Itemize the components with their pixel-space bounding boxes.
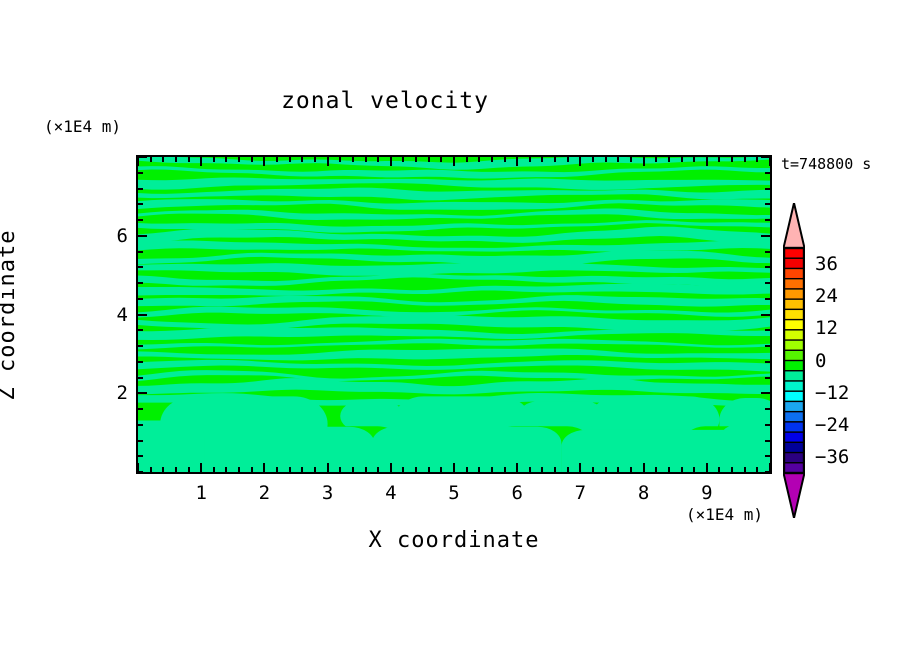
y-axis-minor-tick-right (765, 361, 770, 363)
x-axis-minor-tick-top (491, 157, 493, 162)
y-axis-major-tick (138, 314, 147, 316)
x-axis-major-tick (706, 463, 708, 472)
x-axis-minor-tick-top (365, 157, 367, 162)
y-axis-minor-tick-right (765, 188, 770, 190)
x-axis-tick-label: 2 (252, 482, 276, 504)
x-axis-units-label: (×1E4 m) (686, 505, 763, 524)
x-axis-minor-tick-top (150, 157, 152, 162)
x-axis-major-tick (579, 463, 581, 472)
x-axis-minor-tick-top (617, 157, 619, 162)
y-axis-minor-tick-right (765, 455, 770, 457)
x-axis-minor-tick-top (681, 157, 683, 162)
x-axis-minor-tick-top (731, 157, 733, 162)
colorbar-segment (784, 463, 804, 473)
x-axis-minor-tick (744, 467, 746, 472)
x-axis-major-tick (516, 463, 518, 472)
x-axis-minor-tick (314, 467, 316, 472)
y-axis-tick-label: 2 (104, 382, 128, 404)
x-axis-minor-tick (225, 467, 227, 472)
y-axis-minor-tick-right (765, 219, 770, 221)
x-axis-minor-tick-top (162, 157, 164, 162)
colorbar-swatches (783, 203, 805, 518)
x-axis-minor-tick-top (175, 157, 177, 162)
colorbar-segment (784, 330, 804, 340)
x-axis-minor-tick (428, 467, 430, 472)
page-title: zonal velocity (0, 88, 770, 114)
x-axis-minor-tick (491, 467, 493, 472)
y-axis-major-tick (138, 392, 147, 394)
x-axis-tick-label: 9 (695, 482, 719, 504)
x-axis-minor-tick-top (529, 157, 531, 162)
y-axis-minor-tick-right (765, 172, 770, 174)
x-axis-minor-tick-top (225, 157, 227, 162)
x-axis-minor-tick (567, 467, 569, 472)
x-axis-minor-tick (251, 467, 253, 472)
colorbar-tick-label: 36 (815, 253, 838, 275)
x-axis-major-tick (643, 463, 645, 472)
y-axis-minor-tick (138, 172, 143, 174)
x-axis-major-tick-top (327, 157, 329, 166)
x-axis-minor-tick (630, 467, 632, 472)
x-axis-minor-tick (529, 467, 531, 472)
colorbar-segment (784, 320, 804, 330)
y-axis-major-tick-right (761, 392, 770, 394)
y-axis-minor-tick (138, 424, 143, 426)
y-axis-minor-tick-right (765, 424, 770, 426)
y-axis-major-tick-right (761, 156, 770, 158)
x-axis-major-tick-top (200, 157, 202, 166)
y-axis-minor-tick-right (765, 345, 770, 347)
x-axis-tick-label: 5 (442, 482, 466, 504)
y-axis-minor-tick (138, 471, 143, 473)
x-axis-minor-tick (681, 467, 683, 472)
x-axis-major-tick-top (579, 157, 581, 166)
x-axis-minor-tick-top (504, 157, 506, 162)
x-axis-tick-label: 4 (379, 482, 403, 504)
x-axis-tick-label: 7 (568, 482, 592, 504)
colorbar-segment (784, 258, 804, 268)
x-axis-major-tick-top (137, 157, 139, 166)
colorbar-tick-label: −24 (815, 414, 849, 436)
y-axis-minor-tick (138, 203, 143, 205)
x-axis-minor-tick-top (466, 157, 468, 162)
x-axis-minor-tick (352, 467, 354, 472)
x-axis-minor-tick (188, 467, 190, 472)
x-axis-minor-tick-top (251, 157, 253, 162)
x-axis-major-tick-top (643, 157, 645, 166)
x-axis-minor-tick-top (592, 157, 594, 162)
y-axis-minor-tick (138, 329, 143, 331)
x-axis-minor-tick (213, 467, 215, 472)
x-axis-minor-tick (554, 467, 556, 472)
x-axis-minor-tick (592, 467, 594, 472)
x-axis-minor-tick-top (756, 157, 758, 162)
y-axis-major-tick-right (761, 235, 770, 237)
x-axis-minor-tick-top (301, 157, 303, 162)
y-axis-minor-tick (138, 345, 143, 347)
x-axis-minor-tick (402, 467, 404, 472)
colorbar-segment (784, 442, 804, 452)
x-axis-minor-tick (756, 467, 758, 472)
x-axis-minor-tick (668, 467, 670, 472)
x-axis-minor-tick-top (668, 157, 670, 162)
x-axis-minor-tick-top (554, 157, 556, 162)
x-axis-minor-tick-top (213, 157, 215, 162)
x-axis-major-tick-top (453, 157, 455, 166)
y-axis-minor-tick (138, 219, 143, 221)
x-axis-major-tick-top (769, 157, 771, 166)
colorbar-segment (784, 453, 804, 463)
x-axis-minor-tick (276, 467, 278, 472)
x-axis-minor-tick-top (188, 157, 190, 162)
x-axis-minor-tick-top (567, 157, 569, 162)
y-axis-minor-tick (138, 251, 143, 253)
colorbar-tick-label: 0 (815, 350, 826, 372)
x-axis-minor-tick-top (605, 157, 607, 162)
colorbar-segment (784, 422, 804, 432)
x-axis-tick-label: 6 (505, 482, 529, 504)
x-axis-major-tick (200, 463, 202, 472)
x-axis-minor-tick-top (402, 157, 404, 162)
colorbar-segment (784, 391, 804, 401)
y-axis-major-tick-right (761, 314, 770, 316)
x-axis-major-tick-top (263, 157, 265, 166)
x-axis-major-tick-top (390, 157, 392, 166)
y-axis-minor-tick (138, 298, 143, 300)
contour-field-canvas (138, 157, 770, 472)
y-axis-minor-tick (138, 188, 143, 190)
x-axis-minor-tick-top (428, 157, 430, 162)
x-axis-minor-tick-top (630, 157, 632, 162)
y-axis-minor-tick-right (765, 203, 770, 205)
x-axis-minor-tick (289, 467, 291, 472)
x-axis-minor-tick-top (718, 157, 720, 162)
x-axis-minor-tick-top (238, 157, 240, 162)
x-axis-minor-tick (693, 467, 695, 472)
x-axis-major-tick-top (516, 157, 518, 166)
x-axis-minor-tick (617, 467, 619, 472)
x-axis-minor-tick-top (352, 157, 354, 162)
x-axis-minor-tick (504, 467, 506, 472)
colorbar-tick-label: 12 (815, 317, 838, 339)
x-axis-minor-tick (605, 467, 607, 472)
y-axis-minor-tick (138, 282, 143, 284)
colorbar-under-range-cap (784, 473, 805, 518)
x-axis-minor-tick-top (276, 157, 278, 162)
colorbar-segment (784, 289, 804, 299)
y-axis-minor-tick-right (765, 377, 770, 379)
colorbar-segment (784, 381, 804, 391)
colorbar-segment (784, 268, 804, 278)
x-axis-minor-tick (466, 467, 468, 472)
x-axis-tick-label: 1 (189, 482, 213, 504)
x-axis-major-tick (327, 463, 329, 472)
x-axis-minor-tick (541, 467, 543, 472)
x-axis-minor-tick (415, 467, 417, 472)
colorbar-segment (784, 412, 804, 422)
colorbar-segment (784, 350, 804, 360)
y-axis-minor-tick (138, 440, 143, 442)
x-axis-tick-label: 3 (316, 482, 340, 504)
x-axis-minor-tick (718, 467, 720, 472)
colorbar-segment (784, 299, 804, 309)
x-axis-minor-tick-top (655, 157, 657, 162)
y-axis-major-tick (138, 235, 147, 237)
x-axis-major-tick (263, 463, 265, 472)
x-axis-minor-tick (238, 467, 240, 472)
y-axis-minor-tick-right (765, 282, 770, 284)
y-axis-minor-tick (138, 361, 143, 363)
timestamp-label: t=748800 s (781, 155, 871, 173)
x-axis-title: X coordinate (136, 528, 772, 553)
colorbar-tick-label: −36 (815, 446, 849, 468)
x-axis-minor-tick-top (440, 157, 442, 162)
colorbar-segment (784, 279, 804, 289)
colorbar-segment (784, 340, 804, 350)
x-axis-minor-tick (365, 467, 367, 472)
x-axis-minor-tick (175, 467, 177, 472)
y-axis-title: Z coordinate (0, 150, 21, 480)
colorbar-over-range-cap (784, 203, 805, 248)
x-axis-minor-tick-top (415, 157, 417, 162)
contour-plot-area (136, 155, 772, 474)
y-axis-minor-tick-right (765, 266, 770, 268)
x-axis-minor-tick-top (541, 157, 543, 162)
x-axis-minor-tick (150, 467, 152, 472)
y-axis-minor-tick-right (765, 329, 770, 331)
x-axis-minor-tick-top (289, 157, 291, 162)
x-axis-major-tick (390, 463, 392, 472)
y-axis-minor-tick (138, 455, 143, 457)
x-axis-minor-tick (478, 467, 480, 472)
x-axis-minor-tick-top (314, 157, 316, 162)
y-axis-minor-tick-right (765, 408, 770, 410)
y-axis-minor-tick (138, 408, 143, 410)
x-axis-minor-tick-top (377, 157, 379, 162)
y-axis-minor-tick (138, 266, 143, 268)
colorbar-segment (784, 401, 804, 411)
x-axis-minor-tick-top (478, 157, 480, 162)
x-axis-minor-tick (339, 467, 341, 472)
y-axis-tick-label: 4 (104, 304, 128, 326)
colorbar-segment (784, 309, 804, 319)
x-axis-major-tick-top (706, 157, 708, 166)
y-axis-tick-label: 6 (104, 225, 128, 247)
x-axis-minor-tick (377, 467, 379, 472)
y-axis-minor-tick-right (765, 251, 770, 253)
y-axis-minor-tick (138, 377, 143, 379)
y-axis-minor-tick-right (765, 440, 770, 442)
colorbar (783, 203, 805, 518)
x-axis-minor-tick-top (339, 157, 341, 162)
x-axis-minor-tick (440, 467, 442, 472)
x-axis-minor-tick (162, 467, 164, 472)
x-axis-minor-tick-top (693, 157, 695, 162)
x-axis-major-tick (453, 463, 455, 472)
colorbar-segment (784, 432, 804, 442)
y-axis-units-label: (×1E4 m) (44, 117, 121, 136)
y-axis-minor-tick-right (765, 298, 770, 300)
colorbar-tick-label: −12 (815, 382, 849, 404)
colorbar-segment (784, 361, 804, 371)
x-axis-tick-label: 8 (632, 482, 656, 504)
colorbar-segment (784, 248, 804, 258)
x-axis-minor-tick (655, 467, 657, 472)
colorbar-segment (784, 371, 804, 381)
colorbar-tick-label: 24 (815, 285, 838, 307)
x-axis-minor-tick (301, 467, 303, 472)
x-axis-minor-tick (731, 467, 733, 472)
x-axis-minor-tick-top (744, 157, 746, 162)
y-axis-major-tick (138, 156, 147, 158)
y-axis-minor-tick-right (765, 471, 770, 473)
